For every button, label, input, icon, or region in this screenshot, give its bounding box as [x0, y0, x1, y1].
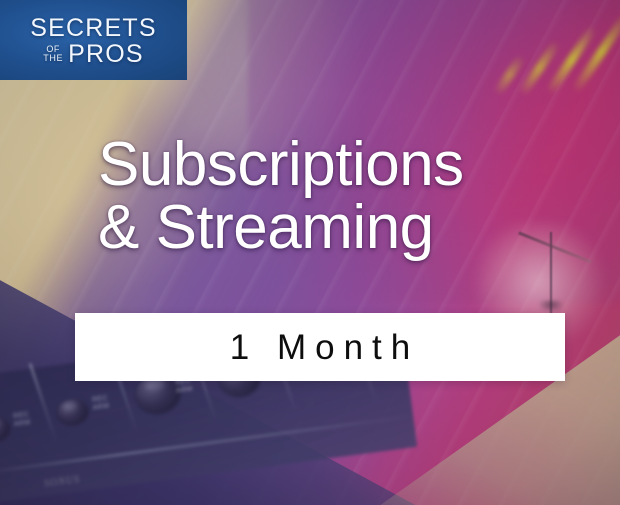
- brand-logo-row-2: OF THE PROS: [43, 42, 143, 67]
- brand-logo-of-the: OF THE: [43, 45, 63, 63]
- console-label-rec-arm: RECARM: [92, 395, 111, 413]
- brand-logo-badge: SECRETS OF THE PROS: [0, 0, 187, 80]
- console-label-rec-arm: RECARM: [13, 411, 32, 429]
- page-title-line-1: Subscriptions: [98, 133, 568, 196]
- mic-stand-base: [538, 300, 564, 312]
- brand-logo-inner: SECRETS OF THE PROS: [0, 0, 187, 80]
- page-title: Subscriptions & Streaming: [98, 133, 568, 259]
- duration-banner: 1 Month: [75, 313, 565, 381]
- duration-label: 1 Month: [221, 330, 419, 365]
- brand-logo-pros: PROS: [68, 42, 144, 67]
- brand-logo-secrets: SECRETS: [30, 16, 156, 41]
- product-card: INPUTGAIN GAIN RECARM RECARM RECARM RECA…: [0, 0, 620, 505]
- brand-logo-the: THE: [43, 54, 63, 63]
- page-title-line-2: & Streaming: [98, 196, 568, 259]
